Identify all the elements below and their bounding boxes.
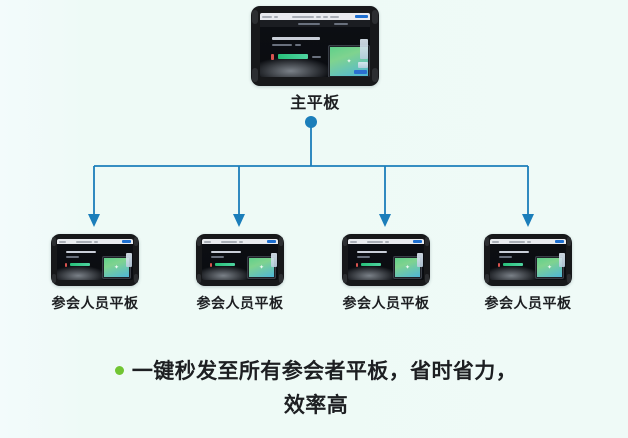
tablet-bumper-bl	[485, 274, 489, 283]
content-marker	[356, 263, 358, 267]
toolbar-primary-button[interactable]	[267, 240, 276, 243]
toolbar-primary-button[interactable]	[555, 240, 564, 243]
toolbar-chip	[385, 241, 389, 243]
toolbar-chip	[367, 241, 383, 243]
toolbar-chip	[239, 241, 243, 243]
master-tablet-screen[interactable]: ✦	[260, 13, 370, 77]
content-subtext	[272, 44, 292, 46]
content-heading	[272, 37, 320, 40]
green-dot-icon	[115, 366, 124, 375]
tablet-bumper-bl	[252, 68, 258, 82]
content-marker	[65, 263, 67, 267]
screen-content: ✦	[57, 244, 133, 280]
tablet-bumper-tr	[372, 10, 378, 24]
content-action-button[interactable]	[354, 70, 367, 74]
tablet-bumper-tl	[343, 237, 347, 246]
tablet-bumper-bl	[52, 274, 56, 283]
tablet-bumper-tr	[567, 237, 571, 246]
tablet-bumper-tl	[197, 237, 201, 246]
toolbar-chip	[330, 16, 339, 18]
tablet-bumper-tl	[252, 10, 258, 24]
participant-tablet-2[interactable]: ✦	[196, 234, 284, 286]
content-side-card	[358, 62, 368, 68]
participant-tablet-4[interactable]: ✦	[484, 234, 572, 286]
content-subtext	[499, 256, 512, 258]
content-subtext	[312, 56, 321, 58]
device-glyph-icon: ✦	[114, 265, 119, 271]
caption-block: 一键秒发至所有参会者平板，省时省力， 效率高	[62, 355, 570, 423]
toolbar-chip	[509, 241, 525, 243]
participant-tablet-label-1: 参会人员平板	[35, 293, 155, 313]
content-side-card	[271, 253, 277, 267]
participant-tablet-label-4: 参会人员平板	[468, 293, 588, 313]
arrow-down-icon-4	[522, 214, 534, 227]
content-heading	[357, 251, 387, 253]
tablet-bumper-br	[279, 274, 283, 283]
diagram-canvas: ✦ 主平板	[0, 0, 628, 438]
device-glyph-icon: ✦	[405, 265, 410, 271]
content-progress-bar	[70, 263, 90, 266]
content-progress-bar	[278, 54, 308, 59]
toolbar-chip	[492, 241, 499, 243]
caption-line-2: 效率高	[284, 394, 348, 417]
toolbar-chip	[292, 16, 314, 18]
screen-content: ✦	[202, 244, 278, 280]
toolbar-chip	[323, 16, 328, 18]
participant-tablet-screen-4[interactable]: ✦	[490, 239, 566, 280]
content-subtext	[357, 256, 370, 258]
tablet-bumper-br	[134, 274, 138, 283]
screen-content: ✦	[260, 27, 370, 77]
content-heading	[66, 251, 96, 253]
arrow-down-icon-3	[379, 214, 391, 227]
subbar-text	[298, 23, 320, 25]
content-subtext	[295, 44, 301, 46]
tablet-bumper-tr	[279, 237, 283, 246]
content-side-card	[360, 39, 368, 59]
toolbar-chip	[59, 241, 66, 243]
content-marker	[271, 54, 274, 60]
toolbar-chip	[350, 241, 357, 243]
arrow-down-icon-1	[88, 214, 100, 227]
toolbar-chip	[94, 241, 98, 243]
content-heading	[211, 251, 241, 253]
participant-tablet-screen-2[interactable]: ✦	[202, 239, 278, 280]
device-glyph-icon: ✦	[259, 265, 264, 271]
tablet-bumper-tl	[485, 237, 489, 246]
subbar-text	[334, 23, 348, 25]
toolbar-chip	[316, 16, 321, 18]
toolbar-chip	[221, 241, 237, 243]
tablet-bumper-br	[372, 68, 378, 82]
tablet-bumper-br	[425, 274, 429, 283]
caption-line-1: 一键秒发至所有参会者平板，省时省力，	[132, 360, 517, 383]
tablet-bumper-tl	[52, 237, 56, 246]
tablet-bumper-tr	[425, 237, 429, 246]
participant-tablet-1[interactable]: ✦	[51, 234, 139, 286]
toolbar-primary-button[interactable]	[355, 15, 368, 18]
content-heading	[499, 251, 529, 253]
screen-content: ✦	[490, 244, 566, 280]
content-progress-bar	[215, 263, 235, 266]
content-progress-bar	[503, 263, 523, 266]
device-glyph-icon: ✦	[346, 59, 351, 65]
toolbar-chip	[527, 241, 531, 243]
content-subtext	[211, 256, 224, 258]
master-tablet-label: 主平板	[251, 89, 379, 113]
content-side-card	[126, 253, 132, 267]
screen-content: ✦	[348, 244, 424, 280]
participant-tablet-label-3: 参会人员平板	[326, 293, 446, 313]
participant-tablet-screen-1[interactable]: ✦	[57, 239, 133, 280]
tablet-bumper-bl	[343, 274, 347, 283]
content-side-card	[559, 253, 565, 267]
toolbar-primary-button[interactable]	[122, 240, 131, 243]
tablet-bumper-br	[567, 274, 571, 283]
toolbar-chip	[76, 241, 92, 243]
screen-toolbar	[260, 13, 370, 20]
content-side-card	[417, 253, 423, 267]
participant-tablet-screen-3[interactable]: ✦	[348, 239, 424, 280]
toolbar-chip	[204, 241, 211, 243]
content-marker	[498, 263, 500, 267]
arrow-down-icon-2	[233, 214, 245, 227]
content-progress-bar	[361, 263, 381, 266]
tablet-bumper-tr	[134, 237, 138, 246]
toolbar-chip	[274, 16, 278, 18]
tablet-bumper-bl	[197, 274, 201, 283]
content-subtext	[66, 256, 79, 258]
toolbar-chip	[262, 16, 272, 18]
master-tablet[interactable]: ✦	[251, 6, 379, 86]
node-dot-icon	[305, 116, 317, 128]
participant-tablet-3[interactable]: ✦	[342, 234, 430, 286]
device-glyph-icon: ✦	[547, 265, 552, 271]
toolbar-primary-button[interactable]	[413, 240, 422, 243]
content-marker	[210, 263, 212, 267]
participant-tablet-label-2: 参会人员平板	[180, 293, 300, 313]
